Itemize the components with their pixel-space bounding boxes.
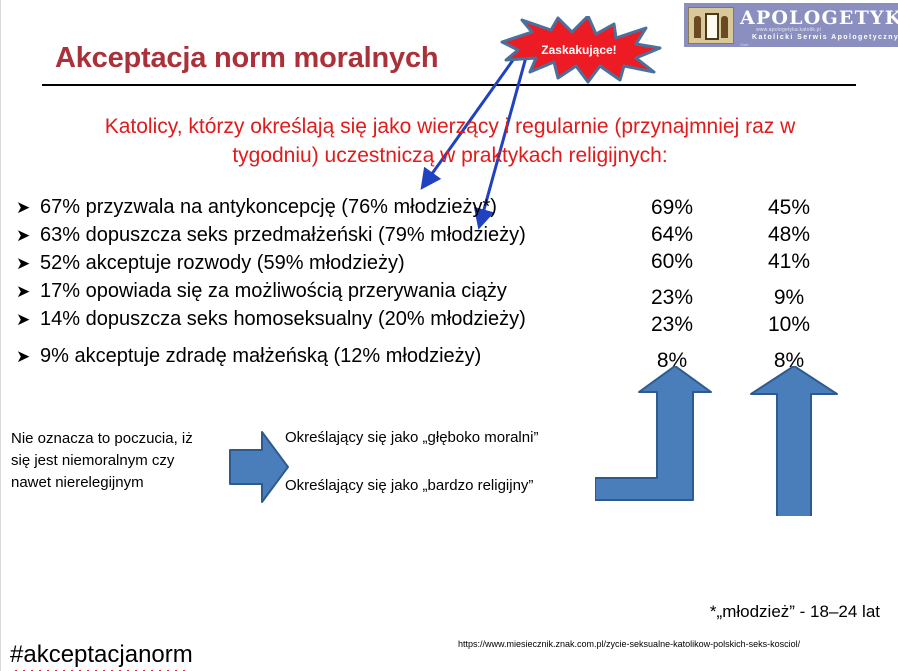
percent-value: 23% <box>637 311 707 338</box>
list-item-label: 52% akceptuje rozwody (59% młodzieży) <box>40 250 405 277</box>
arrow-bullet-icon: ➤ <box>16 307 40 334</box>
list-item: ➤ 63% dopuszcza seks przedmałżeński (79%… <box>16 222 616 250</box>
slide-canvas: APOLOGETYKA www.apologetyka.katolik.pl K… <box>0 0 898 671</box>
logo-url-text: www.apologetyka.katolik.pl <box>756 27 821 33</box>
list-item: ➤ 17% opowiada się za możliwością przery… <box>16 278 616 306</box>
starburst-shape <box>496 16 662 84</box>
list-item: ➤ 52% akceptuje rozwody (59% młodzieży) <box>16 250 616 278</box>
percent-value: 10% <box>754 311 824 338</box>
hashtag-text: #akceptacjanorm <box>10 641 193 671</box>
percent-column-very-religious: 45% 48% 41% 9% 10% 8% <box>754 194 824 374</box>
percent-value: 45% <box>754 194 824 221</box>
percent-value: 9% <box>754 284 824 311</box>
percent-value: 60% <box>637 248 707 275</box>
left-edge-strip <box>0 0 4 671</box>
note-line-3: nawet nierelegijnym <box>11 472 226 494</box>
callout-starburst[interactable]: Zaskakujące! <box>496 16 662 84</box>
list-item-label: 14% dopuszcza seks homoseksualny (20% mł… <box>40 306 526 333</box>
list-item-label: 63% dopuszcza seks przedmałżeński (79% m… <box>40 222 526 249</box>
percent-value: 69% <box>637 194 707 221</box>
category-label-very-religious: Określający się jako „bardzo religijny” <box>285 477 533 494</box>
hashtag-block: #akceptacjanorm <box>10 641 193 671</box>
arrow-bullet-icon: ➤ <box>16 344 40 371</box>
right-arrow-icon <box>228 428 290 506</box>
source-url-link[interactable]: https://www.miesiecznik.znak.com.pl/zyci… <box>458 639 800 649</box>
slide-subtitle: Katolicy, którzy określają się jako wier… <box>62 112 838 170</box>
list-item-label: 17% opowiada się za możliwością przerywa… <box>40 278 507 305</box>
logo-wordmark: APOLOGETYKA <box>740 7 898 29</box>
arrow-bullet-icon: ➤ <box>16 251 40 278</box>
percent-value: 64% <box>637 221 707 248</box>
arrow-bullet-icon: ➤ <box>16 279 40 306</box>
logo-tiny-text: Start <box>740 42 748 47</box>
logo-emblem-icon <box>688 7 734 44</box>
logo-tagline: Katolicki Serwis Apologetyczny <box>752 34 898 41</box>
list-item: ➤ 67% przyzwala na antykoncepcję (76% mł… <box>16 194 616 222</box>
explanatory-note: Nie oznacza to poczucia, iż się jest nie… <box>11 428 226 494</box>
arrow-bullet-icon: ➤ <box>16 195 40 222</box>
category-label-deeply-moral: Określający się jako „głęboko moralni” <box>285 429 538 446</box>
note-line-2: się jest niemoralnym czy <box>11 450 226 472</box>
list-item-label: 9% akceptuje zdradę małżeńską (12% młodz… <box>40 343 481 370</box>
footnote-text: *„młodzież” - 18–24 lat <box>600 602 880 622</box>
percent-value: 48% <box>754 221 824 248</box>
note-line-1: Nie oznacza to poczucia, iż <box>11 428 226 450</box>
apologetyka-logo[interactable]: APOLOGETYKA www.apologetyka.katolik.pl K… <box>684 3 898 47</box>
percent-value: 41% <box>754 248 824 275</box>
percent-column-deeply-moral: 69% 64% 60% 23% 23% 8% <box>637 194 707 374</box>
arrow-bullet-icon: ➤ <box>16 223 40 250</box>
percent-value: 23% <box>637 284 707 311</box>
list-item-label: 67% przyzwala na antykoncepcję (76% młod… <box>40 194 497 221</box>
list-item: ➤ 9% akceptuje zdradę małżeńską (12% mło… <box>16 343 616 371</box>
statements-list: ➤ 67% przyzwala na antykoncepcję (76% mł… <box>16 194 616 371</box>
list-item: ➤ 14% dopuszcza seks homoseksualny (20% … <box>16 306 616 334</box>
page-title: Akceptacja norm moralnych <box>55 42 438 75</box>
bent-arrow-very-religious <box>595 366 855 516</box>
